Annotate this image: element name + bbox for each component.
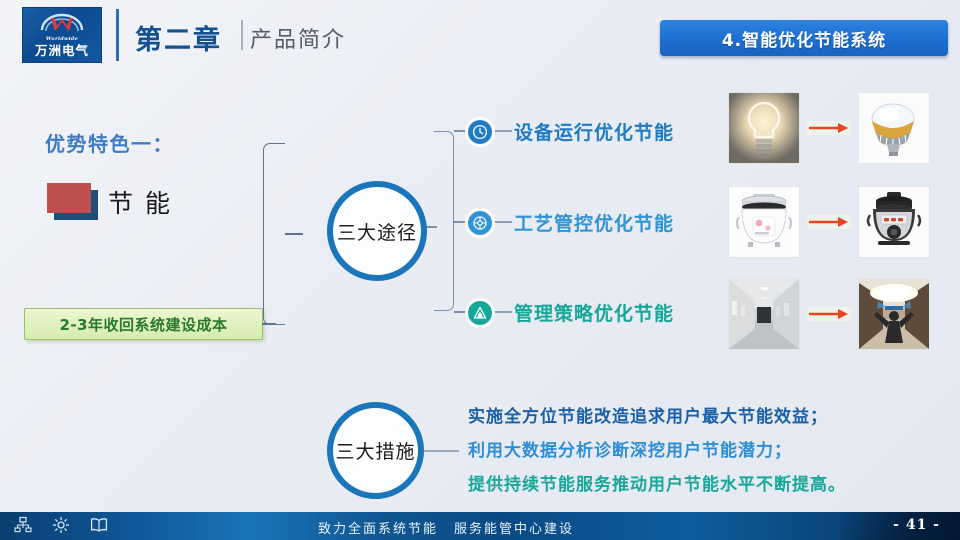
measure-line-2: 利用大数据分析诊断深挖用户节能潜力； — [468, 436, 948, 461]
image-pair-cookers — [728, 186, 930, 258]
footer-slogan: 致力全面系统节能服务能管中心建设 — [318, 518, 574, 537]
node-approaches[interactable]: 三大途径 — [327, 181, 427, 281]
connector-to-cost-note — [262, 323, 276, 325]
section-banner: 4.智能优化节能系统 — [660, 20, 948, 56]
book-icon[interactable] — [90, 516, 108, 534]
node-measures[interactable]: 三大措施 — [327, 402, 424, 499]
image-pair-corridors — [728, 278, 930, 350]
company-logo: Worldwide 万洲电气 — [22, 7, 102, 63]
footer-slogan-b: 服务能管中心建设 — [454, 522, 574, 537]
slide-canvas: Worldwide 万洲电气 第二章 产品简介 4.智能优化节能系统 优势特色一… — [0, 0, 960, 540]
advantage-title: 优势特色一： — [45, 128, 174, 157]
branch-item-3-label: 管理策略优化节能 — [514, 299, 674, 326]
branch-item-1[interactable]: 设备运行优化节能 — [468, 118, 674, 145]
triangle-leaf-icon — [468, 301, 492, 325]
lit-corridor-image — [858, 278, 930, 350]
footer-bar: 致力全面系统节能服务能管中心建设 - 41 - — [0, 512, 960, 540]
gear-icon[interactable] — [52, 516, 70, 534]
branch-item-2-label: 工艺管控优化节能 — [514, 209, 674, 236]
cost-note-box: 2-3年收回系统建设成本 — [24, 308, 263, 340]
footer-slogan-a: 致力全面系统节能 — [318, 522, 438, 537]
measures-list: 实施全方位节能改造追求用户最大节能效益； 利用大数据分析诊断深挖用户节能潜力； … — [468, 402, 948, 504]
orange-arrow-icon-1 — [806, 118, 852, 138]
branch-item-2[interactable]: 工艺管控优化节能 — [468, 209, 674, 236]
header-subtitle: 产品简介 — [250, 22, 346, 54]
connector-branch-1 — [454, 130, 468, 132]
orange-arrow-icon-3 — [806, 304, 852, 324]
dark-corridor-image — [728, 278, 800, 350]
node-measures-label: 三大措施 — [335, 437, 415, 464]
connector-branch-3 — [454, 311, 468, 313]
logo-company-name: 万洲电气 — [35, 43, 89, 58]
measure-line-3: 提供持续节能服务推动用户节能水平不断提高。 — [468, 470, 948, 495]
red-square-decor — [47, 183, 91, 213]
logo-emblem-icon — [40, 13, 84, 35]
connector-measures-out — [419, 450, 459, 452]
page-number: - 41 - — [893, 517, 940, 533]
sitemap-icon[interactable] — [14, 516, 32, 534]
connector-right-bracket — [434, 131, 454, 311]
led-bulb-image — [858, 92, 930, 164]
keyword-label: 节 能 — [108, 184, 172, 220]
node-approaches-label: 三大途径 — [337, 218, 417, 245]
cost-note-label: 2-3年收回系统建设成本 — [59, 314, 227, 335]
footer-icon-group — [14, 516, 108, 534]
image-pair-bulbs — [728, 92, 930, 164]
incandescent-bulb-image — [728, 92, 800, 164]
logo-subtext: Worldwide — [46, 36, 78, 42]
gear-network-icon — [468, 211, 492, 235]
header-separator — [241, 20, 243, 50]
connector-to-approaches — [285, 233, 303, 235]
pressure-cooker-image — [858, 186, 930, 258]
orange-arrow-icon-2 — [806, 212, 852, 232]
rice-cooker-image — [728, 186, 800, 258]
chapter-title: 第二章 — [135, 18, 222, 57]
section-banner-label: 4.智能优化节能系统 — [722, 26, 886, 51]
branch-item-3[interactable]: 管理策略优化节能 — [468, 299, 674, 326]
clock-icon — [468, 120, 492, 144]
header-divider — [116, 9, 119, 61]
measure-line-1: 实施全方位节能改造追求用户最大节能效益； — [468, 402, 948, 427]
branch-item-1-label: 设备运行优化节能 — [514, 118, 674, 145]
connector-branch-2 — [454, 221, 468, 223]
connector-left-bracket — [263, 143, 285, 325]
